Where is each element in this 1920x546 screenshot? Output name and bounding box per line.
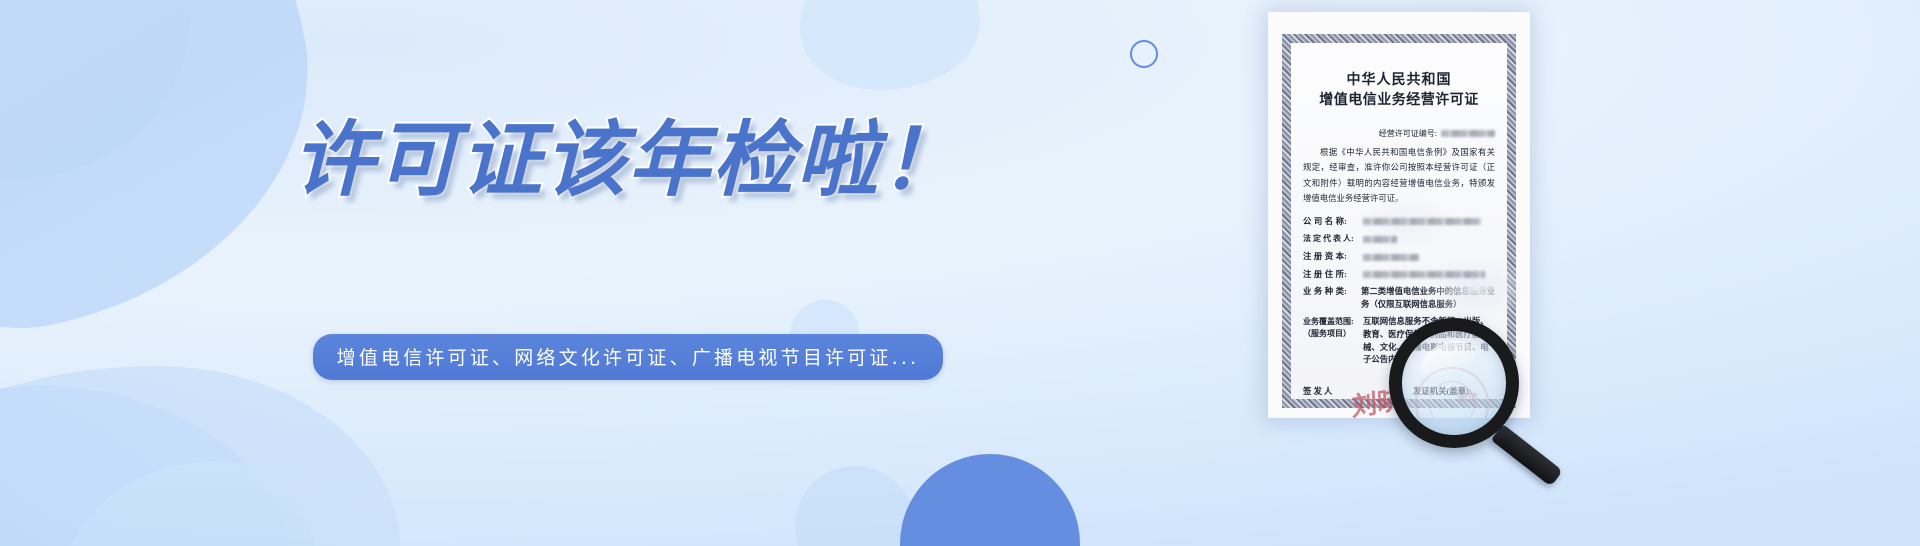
certificate-fields: 公 司 名 称: 法 定 代 表 人: 注 册 资 本: 注 册 住 所: 业 xyxy=(1303,216,1495,367)
certificate-inner-frame: 中华人民共和国 增值电信业务经营许可证 经营许可证编号: 根据《中华人民共和国电… xyxy=(1282,34,1516,408)
page-title: 许可证该年检啦！ xyxy=(292,118,964,204)
certificate-license-number-label: 经营许可证编号: xyxy=(1379,129,1437,138)
certificate-field-row: 业 务 种 类: 第二类增值电信业务中的信息服务业务（仅限互联网信息服务） xyxy=(1303,286,1495,311)
certificate-field-label: 法 定 代 表 人: xyxy=(1303,233,1361,245)
decorative-blob-bottom-left-front xyxy=(0,386,290,546)
certificate-body-text: 根据《中华人民共和国电信条例》及国家有关规定，经审查，准许你公司按照本经营许可证… xyxy=(1303,145,1495,207)
subtitle-container: 增值电信许可证、网络文化许可证、广播电视节目许可证... xyxy=(0,334,1256,380)
certificate-field-label: 公 司 名 称: xyxy=(1303,216,1361,229)
certificate-card: 中华人民共和国 增值电信业务经营许可证 经营许可证编号: 根据《中华人民共和国电… xyxy=(1268,12,1530,418)
subtitle-pill: 增值电信许可证、网络文化许可证、广播电视节目许可证... xyxy=(313,334,944,380)
magnifier-handle xyxy=(1491,424,1563,487)
certificate-signature-label: 签 发 人 xyxy=(1303,385,1413,397)
certificate-title-line1: 中华人民共和国 xyxy=(1303,71,1495,91)
certificate-field-row: 注 册 资 本: xyxy=(1303,251,1495,264)
certificate-signature-row: 签 发 人 发证机关(盖章): 刘晓 通信 xyxy=(1303,385,1495,397)
certificate-field-label: 注 册 住 所: xyxy=(1303,269,1361,282)
certificate-license-number-row: 经营许可证编号: xyxy=(1303,128,1495,139)
certificate-field-value xyxy=(1361,251,1495,264)
circle-outline-decoration-icon xyxy=(1130,40,1158,68)
decorative-dot-bottom-soft xyxy=(795,466,915,546)
certificate-title: 中华人民共和国 增值电信业务经营许可证 xyxy=(1303,71,1495,112)
certificate-issuer-label: 发证机关(盖章): xyxy=(1413,385,1495,397)
certificate-field-value: 互联网信息服务不含新闻、出版、教育、医疗保健、药品和医疗器械、文化、广播电影电视… xyxy=(1363,316,1495,366)
certificate-field-label: 业 务 种 类: xyxy=(1303,286,1361,299)
decorative-blob-bottom-left-small xyxy=(60,461,320,546)
certificate-field-value xyxy=(1361,233,1495,246)
certificate-title-line2: 增值电信业务经营许可证 xyxy=(1303,91,1495,111)
certificate-field-row: 公 司 名 称: xyxy=(1303,216,1495,229)
certificate-field-label: 注 册 资 本: xyxy=(1303,251,1361,264)
certificate-field-value xyxy=(1361,269,1495,282)
decorative-circle-bottom xyxy=(900,454,1080,546)
decorative-blob-bottom-left-back xyxy=(0,366,400,546)
headline-container: 许可证该年检啦！ xyxy=(0,118,1256,204)
banner-root: 许可证该年检啦！ 增值电信许可证、网络文化许可证、广播电视节目许可证... 中华… xyxy=(0,0,1920,546)
certificate-field-row: 业务覆盖范围:（服务项目） 互联网信息服务不含新闻、出版、教育、医疗保健、药品和… xyxy=(1303,316,1495,366)
certificate-field-row: 法 定 代 表 人: xyxy=(1303,233,1495,246)
certificate-field-label: 业务覆盖范围:（服务项目） xyxy=(1303,316,1363,340)
certificate-field-row: 注 册 住 所: xyxy=(1303,269,1495,282)
certificate-field-value xyxy=(1361,216,1495,229)
certificate-license-number-redacted xyxy=(1441,130,1495,137)
decorative-blob-top-center xyxy=(800,0,980,90)
certificate-field-value: 第二类增值电信业务中的信息服务业务（仅限互联网信息服务） xyxy=(1361,286,1495,311)
